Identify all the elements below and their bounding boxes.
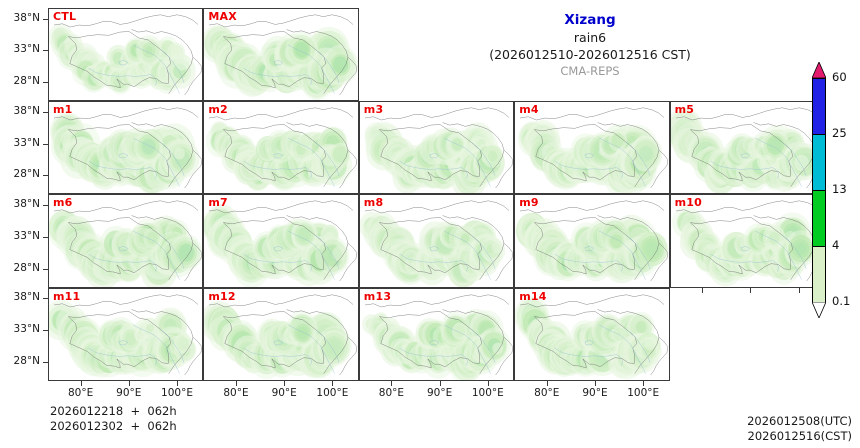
x-tick-mark: [643, 381, 644, 386]
x-tick-label: 100°E: [307, 387, 357, 399]
x-tick-label: 90°E: [570, 387, 620, 399]
x-tick-mark: [391, 381, 392, 386]
colorbar-label: 25: [832, 126, 847, 140]
panel-m11[interactable]: m11: [48, 288, 203, 381]
y-tick-mark: [43, 269, 48, 270]
y-tick-label: 28°N: [0, 75, 40, 87]
panel-m5[interactable]: m5: [670, 101, 825, 194]
x-tick-label: 100°E: [618, 387, 668, 399]
panel-label: m2: [208, 103, 228, 116]
x-tick-mark: [488, 381, 489, 386]
y-tick-label: 28°N: [0, 355, 40, 367]
colorbar: 60251340.1: [810, 62, 828, 334]
figure-title-block: Xizang rain6 (2026012510-2026012516 CST)…: [440, 12, 740, 80]
panel-m7[interactable]: m7: [203, 194, 358, 287]
x-tick-mark: [129, 381, 130, 386]
y-tick-mark: [43, 50, 48, 51]
x-tick-label: 80°E: [366, 387, 416, 399]
x-tick-mark: [440, 381, 441, 386]
y-tick-mark: [43, 362, 48, 363]
title-variable: rain6: [440, 29, 740, 46]
x-tick-mark: [236, 381, 237, 386]
colorbar-label: 13: [832, 182, 847, 196]
colorbar-over-cap: [812, 62, 826, 78]
footer-right-line1: 2026012508(UTC): [747, 414, 852, 428]
x-tick-label: 90°E: [415, 387, 465, 399]
y-tick-mark: [43, 298, 48, 299]
forecast-figure: Xizang rain6 (2026012510-2026012516 CST)…: [0, 0, 860, 448]
y-tick-label: 33°N: [0, 137, 40, 149]
x-tick-mark: [595, 381, 596, 386]
title-model: CMA-REPS: [440, 63, 740, 80]
colorbar-band-1: [812, 134, 826, 190]
y-tick-label: 33°N: [0, 323, 40, 335]
x-tick-mark: [750, 288, 751, 293]
colorbar-tick-line: [812, 190, 826, 191]
panel-label: m12: [208, 290, 235, 303]
panel-m14[interactable]: m14: [514, 288, 669, 381]
x-tick-label: 80°E: [522, 387, 572, 399]
x-tick-mark: [799, 288, 800, 293]
panel-m1[interactable]: m1: [48, 101, 203, 194]
y-tick-label: 28°N: [0, 262, 40, 274]
y-tick-label: 38°N: [0, 198, 40, 210]
y-tick-label: 38°N: [0, 105, 40, 117]
x-tick-mark: [284, 381, 285, 386]
colorbar-label: 4: [832, 238, 839, 252]
title-period: (2026012510-2026012516 CST): [440, 46, 740, 63]
x-tick-label: 80°E: [56, 387, 106, 399]
panel-m8[interactable]: m8: [359, 194, 514, 287]
panel-m12[interactable]: m12: [203, 288, 358, 381]
panel-label: m7: [208, 196, 228, 209]
y-tick-mark: [43, 237, 48, 238]
y-tick-label: 33°N: [0, 230, 40, 242]
panel-ctl[interactable]: CTL: [48, 8, 203, 101]
y-tick-label: 28°N: [0, 168, 40, 180]
x-tick-mark: [547, 381, 548, 386]
colorbar-under-cap: [812, 302, 826, 318]
y-tick-label: 38°N: [0, 291, 40, 303]
panel-m4[interactable]: m4: [514, 101, 669, 194]
y-tick-mark: [43, 112, 48, 113]
panel-m13[interactable]: m13: [359, 288, 514, 381]
panel-label: m9: [519, 196, 539, 209]
panel-m6[interactable]: m6: [48, 194, 203, 287]
panel-label: m13: [364, 290, 391, 303]
panel-m3[interactable]: m3: [359, 101, 514, 194]
y-tick-mark: [43, 144, 48, 145]
x-tick-mark: [81, 381, 82, 386]
footer-left-line2: 2026012302 + 062h: [50, 419, 177, 433]
x-tick-mark: [177, 381, 178, 386]
footer-left-line1: 2026012218 + 062h: [50, 404, 177, 418]
panel-label: MAX: [208, 10, 237, 23]
y-tick-mark: [43, 175, 48, 176]
x-tick-label: 100°E: [152, 387, 202, 399]
panel-label: m14: [519, 290, 546, 303]
panel-label: m4: [519, 103, 539, 116]
x-tick-label: 90°E: [259, 387, 309, 399]
panel-label: m5: [675, 103, 695, 116]
panel-label: m6: [53, 196, 73, 209]
colorbar-tick-line: [812, 246, 826, 247]
colorbar-label: 0.1: [832, 294, 850, 308]
title-region: Xizang: [440, 12, 740, 29]
footer-right-line2: 2026012516(CST): [748, 429, 853, 443]
panel-m9[interactable]: m9: [514, 194, 669, 287]
panel-label: m8: [364, 196, 384, 209]
x-tick-mark: [332, 381, 333, 386]
panel-max[interactable]: MAX: [203, 8, 358, 101]
colorbar-band-3: [812, 246, 826, 302]
y-tick-mark: [43, 205, 48, 206]
panel-label: m1: [53, 103, 73, 116]
y-tick-mark: [43, 82, 48, 83]
panel-label: m11: [53, 290, 80, 303]
y-tick-label: 38°N: [0, 12, 40, 24]
x-tick-mark: [702, 288, 703, 293]
colorbar-label: 60: [832, 70, 847, 84]
panel-label: CTL: [53, 10, 76, 23]
panel-m10[interactable]: m10: [670, 194, 825, 287]
colorbar-tick-line: [812, 78, 826, 79]
y-tick-label: 33°N: [0, 43, 40, 55]
x-tick-label: 90°E: [104, 387, 154, 399]
panel-label: m10: [675, 196, 702, 209]
colorbar-tick-line: [812, 134, 826, 135]
x-tick-label: 80°E: [211, 387, 261, 399]
colorbar-band-2: [812, 190, 826, 246]
panel-m2[interactable]: m2: [203, 101, 358, 194]
panel-label: m3: [364, 103, 384, 116]
y-tick-mark: [43, 330, 48, 331]
colorbar-band-0: [812, 78, 826, 134]
y-tick-mark: [43, 19, 48, 20]
x-tick-label: 100°E: [463, 387, 513, 399]
